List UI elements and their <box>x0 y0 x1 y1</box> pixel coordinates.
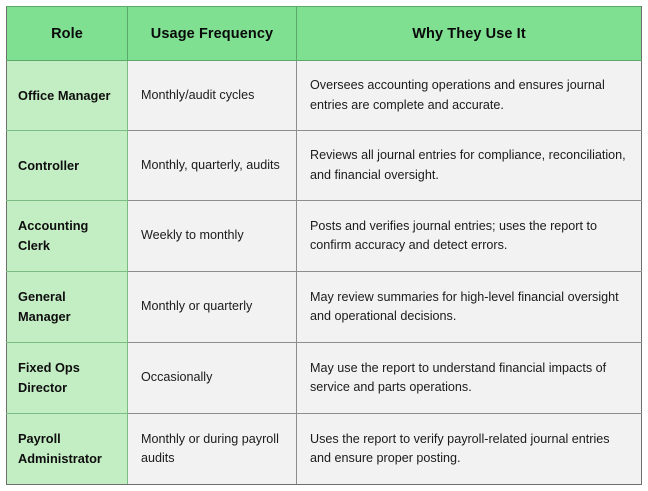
cell-role: Fixed Ops Director <box>7 343 128 414</box>
cell-frequency: Occasionally <box>128 343 297 414</box>
cell-role: Controller <box>7 131 128 201</box>
cell-why: Oversees accounting operations and ensur… <box>297 61 642 131</box>
table-body: Office Manager Monthly/audit cycles Over… <box>7 61 642 485</box>
cell-frequency: Monthly, quarterly, audits <box>128 131 297 201</box>
cell-frequency: Monthly/audit cycles <box>128 61 297 131</box>
roles-usage-table: Role Usage Frequency Why They Use It Off… <box>6 6 642 485</box>
cell-frequency: Monthly or quarterly <box>128 272 297 343</box>
cell-why: May use the report to understand financi… <box>297 343 642 414</box>
cell-frequency: Monthly or during payroll audits <box>128 414 297 485</box>
cell-frequency: Weekly to monthly <box>128 201 297 272</box>
table-row: Payroll Administrator Monthly or during … <box>7 414 642 485</box>
table-row: Accounting Clerk Weekly to monthly Posts… <box>7 201 642 272</box>
header-row: Role Usage Frequency Why They Use It <box>7 7 642 61</box>
column-header-role: Role <box>7 7 128 61</box>
cell-why: May review summaries for high-level fina… <box>297 272 642 343</box>
cell-why: Posts and verifies journal entries; uses… <box>297 201 642 272</box>
table-header: Role Usage Frequency Why They Use It <box>7 7 642 61</box>
cell-why: Uses the report to verify payroll-relate… <box>297 414 642 485</box>
column-header-frequency: Usage Frequency <box>128 7 297 61</box>
cell-role: Payroll Administrator <box>7 414 128 485</box>
roles-table-container: Role Usage Frequency Why They Use It Off… <box>6 6 641 485</box>
table-row: Controller Monthly, quarterly, audits Re… <box>7 131 642 201</box>
cell-role: Office Manager <box>7 61 128 131</box>
cell-role: General Manager <box>7 272 128 343</box>
table-row: Fixed Ops Director Occasionally May use … <box>7 343 642 414</box>
table-row: General Manager Monthly or quarterly May… <box>7 272 642 343</box>
cell-why: Reviews all journal entries for complian… <box>297 131 642 201</box>
table-row: Office Manager Monthly/audit cycles Over… <box>7 61 642 131</box>
cell-role: Accounting Clerk <box>7 201 128 272</box>
column-header-why: Why They Use It <box>297 7 642 61</box>
